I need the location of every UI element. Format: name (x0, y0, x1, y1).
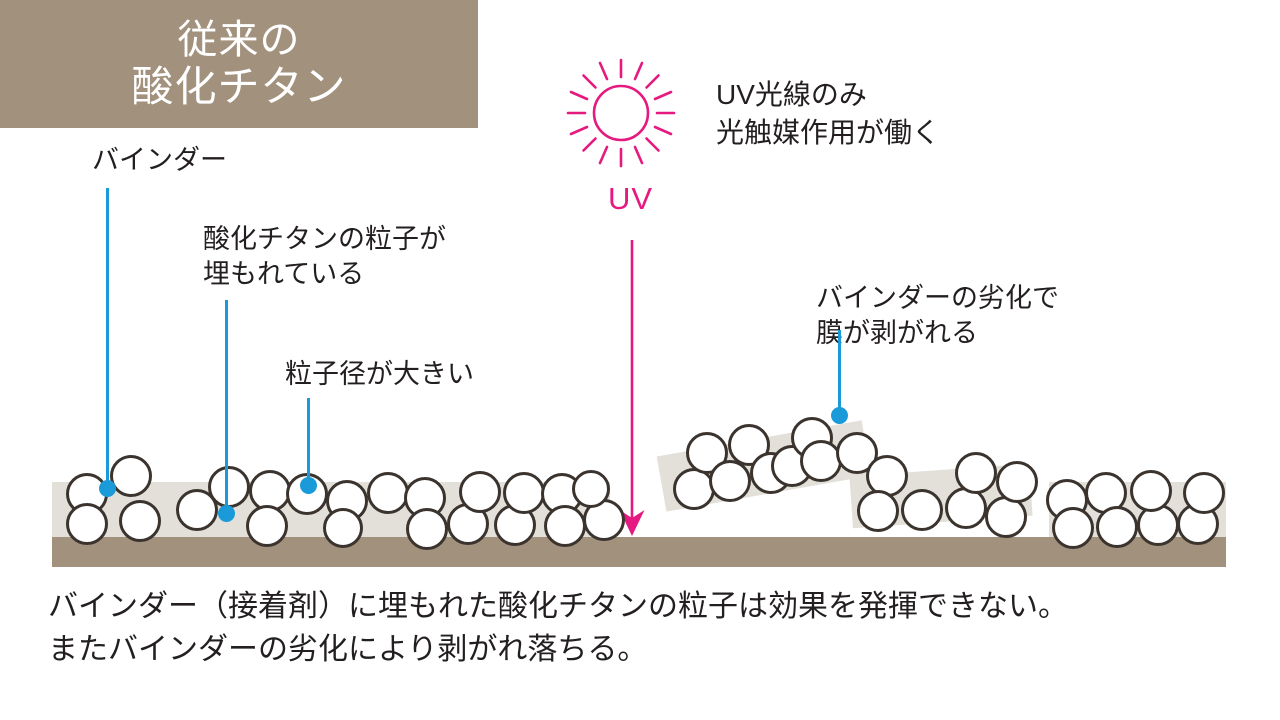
tio2-particle-embedded (208, 466, 250, 508)
leader-diameter-dot (300, 477, 317, 494)
tio2-particle-embedded (544, 505, 586, 547)
callout-buried-line-1: 酸化チタンの粒子が (203, 222, 446, 257)
uv-down-arrow-icon (612, 240, 652, 540)
uv-label: UV (608, 181, 653, 217)
tio2-particle-embedded (66, 503, 108, 545)
callout-buried-line-2: 埋もれている (203, 257, 446, 292)
tio2-particle-embedded (323, 508, 363, 548)
tio2-particle-embedded (459, 471, 501, 513)
callout-peeling-line-1: バインダーの劣化で (816, 281, 1059, 316)
callout-binder-line-1: バインダー (92, 143, 227, 178)
sun-icon (566, 58, 676, 168)
leader-binder-dot (99, 480, 116, 497)
tio2-particle-embedded (406, 508, 448, 550)
callout-large-diameter-line-1: 粒子径が大きい (285, 357, 474, 392)
tio2-particle-embedded (119, 500, 161, 542)
tio2-particle-embedded (246, 505, 288, 547)
tio2-particle-embedded (1183, 472, 1225, 514)
tio2-particle-embedded (572, 470, 610, 508)
tio2-particle-embedded (367, 472, 409, 514)
tio2-particle-embedded (110, 455, 152, 497)
title-line-2: 酸化チタン (131, 63, 346, 110)
leader-buried-dot (218, 505, 235, 522)
tio2-particle-embedded (1130, 470, 1172, 512)
tio2-particle-peeling (673, 468, 715, 510)
leader-binder (106, 188, 109, 493)
tio2-particle-peeling (996, 461, 1038, 503)
title-banner: 従来の 酸化チタン (0, 0, 478, 128)
callout-large-diameter: 粒子径が大きい (285, 357, 474, 392)
tio2-particle-embedded (1096, 506, 1138, 548)
uv-note: UV光線のみ 光触媒作用が働く (716, 76, 940, 151)
callout-peeling-line-2: 膜が剥がれる (816, 316, 1059, 351)
leader-buried (225, 300, 228, 513)
callout-binder: バインダー (92, 143, 227, 178)
tio2-particle-peeling (709, 460, 751, 502)
tio2-particle-peeling (901, 489, 943, 531)
leader-peeling-dot (831, 407, 848, 424)
callout-buried-particles: 酸化チタンの粒子が 埋もれている (203, 222, 446, 291)
diagram-canvas: 従来の 酸化チタン UV UV光線のみ 光触媒作用が働く (0, 0, 1280, 720)
substrate-layer (52, 537, 1226, 567)
title-line-1: 従来の (178, 18, 301, 63)
tio2-particle-peeling (955, 452, 997, 494)
tio2-particle-peeling (857, 490, 899, 532)
caption: バインダー（接着剤）に埋もれた酸化チタンの粒子は効果を発揮できない。 またバイン… (48, 586, 1248, 671)
tio2-particle-embedded (1052, 507, 1094, 549)
caption-line-2: またバインダーの劣化により剥がれ落ちる。 (48, 629, 1248, 672)
uv-note-line-2: 光触媒作用が働く (716, 114, 940, 152)
leader-diameter (307, 398, 310, 485)
uv-note-line-1: UV光線のみ (716, 76, 940, 114)
callout-peeling: バインダーの劣化で 膜が剥がれる (816, 281, 1059, 350)
caption-line-1: バインダー（接着剤）に埋もれた酸化チタンの粒子は効果を発揮できない。 (48, 586, 1248, 629)
tio2-particle-peeling (800, 440, 842, 482)
tio2-particle-embedded (503, 472, 545, 514)
leader-peeling (838, 330, 841, 415)
